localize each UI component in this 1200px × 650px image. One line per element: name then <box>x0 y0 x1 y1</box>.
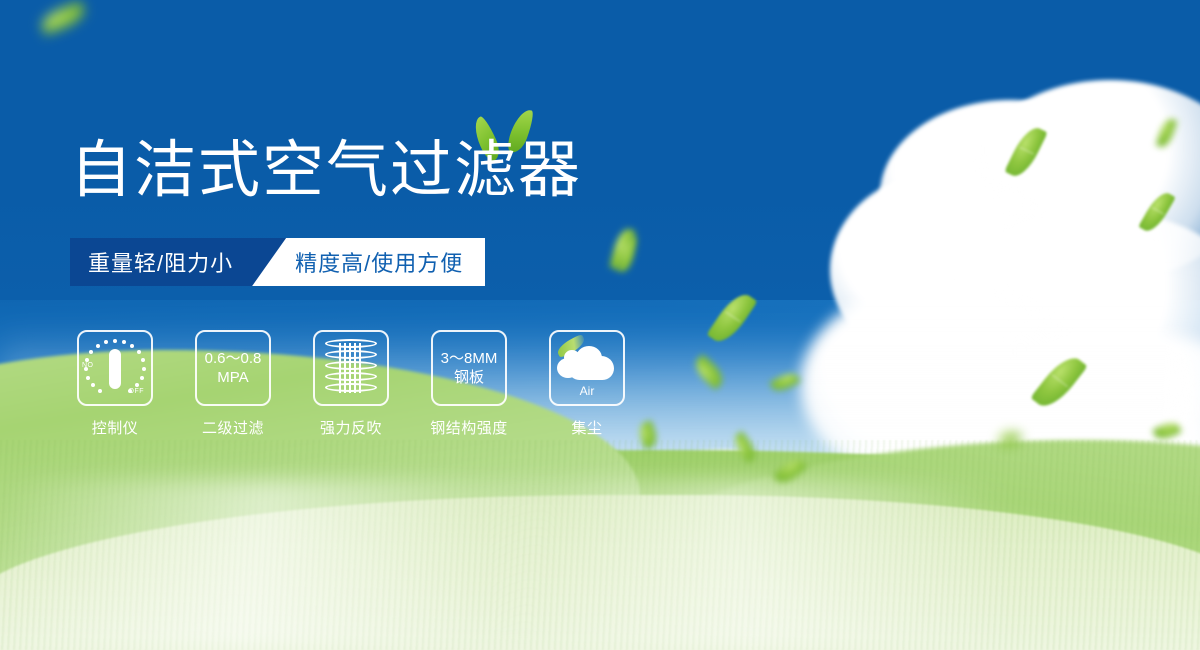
feature-item-blowback[interactable]: 强力反吹 <box>306 330 396 438</box>
feature-box-blowback <box>313 330 389 406</box>
feature-item-secondary-filter[interactable]: 0.6～0.8 MPA 二级过滤 <box>188 330 278 438</box>
feature-item-steel-strength[interactable]: 3～8MM 钢板 钢结构强度 <box>424 330 514 438</box>
subtitle-badge-bar: 重量轻/阻力小 精度高/使用方便 <box>70 238 485 286</box>
coil-blowback-icon <box>325 339 377 397</box>
subtitle-right-text: 精度高/使用方便 <box>285 238 485 286</box>
feature-box-dust-collection: Air <box>549 330 625 406</box>
feature-box-controller: NO OFF <box>77 330 153 406</box>
air-cloud-icon: Air <box>556 342 618 394</box>
subtitle-slash-divider <box>252 238 286 286</box>
gauge-icon: NO OFF <box>84 337 146 399</box>
steel-value-line2: 钢板 <box>454 368 484 387</box>
product-hero-banner: 自洁式空气过滤器 重量轻/阻力小 精度高/使用方便 <box>0 0 1200 650</box>
feature-label-steel-strength: 钢结构强度 <box>430 417 508 438</box>
feature-box-steel-strength: 3～8MM 钢板 <box>431 330 507 406</box>
gauge-label-no: NO <box>82 362 94 369</box>
feature-item-controller[interactable]: NO OFF 控制仪 <box>70 330 160 438</box>
air-label: Air <box>556 384 618 398</box>
feature-label-blowback: 强力反吹 <box>320 417 382 438</box>
feature-label-secondary-filter: 二级过滤 <box>202 417 264 438</box>
pressure-value-line1: 0.6～0.8 <box>205 349 262 368</box>
page-title: 自洁式空气过滤器 <box>70 140 582 202</box>
gauge-label-off: OFF <box>129 388 145 395</box>
grass-light-sheen <box>0 480 1200 650</box>
steel-value-line1: 3～8MM <box>441 349 498 368</box>
feature-label-dust-collection: 集尘 <box>571 417 602 438</box>
feature-box-secondary-filter: 0.6～0.8 MPA <box>195 330 271 406</box>
feature-icon-row: NO OFF 控制仪 0.6～0.8 MPA 二级过滤 <box>70 330 632 438</box>
pressure-value-line2: MPA <box>217 368 248 387</box>
feature-item-dust-collection[interactable]: Air 集尘 <box>542 330 632 438</box>
subtitle-left-text: 重量轻/阻力小 <box>70 238 253 286</box>
feature-label-controller: 控制仪 <box>92 417 139 438</box>
